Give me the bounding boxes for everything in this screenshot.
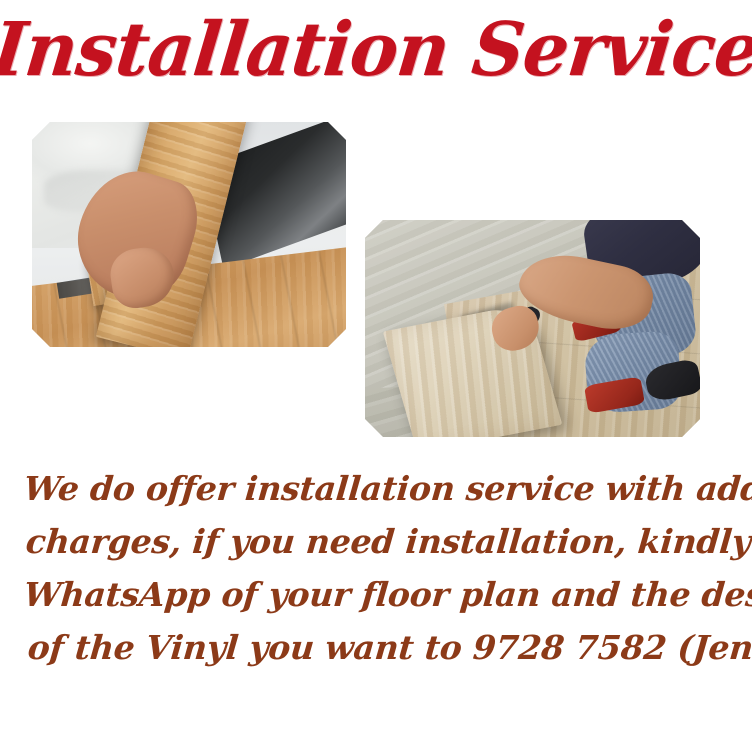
promo-line-3: WhatsApp of your floor plan and the desi… — [22, 568, 735, 621]
photo-image-grey-install — [365, 220, 700, 437]
page-header: Installation Service — [0, 0, 752, 100]
photo-card-oak-install — [23, 113, 355, 356]
promo-line-2: charges, if you need installation, kindl… — [22, 515, 735, 568]
page-title: Installation Service — [0, 13, 752, 87]
promo-line-4: of the Vinyl you want to 9728 7582 (Jenn… — [22, 621, 735, 674]
photo-image-oak-install — [32, 122, 346, 347]
promo-line-1: We do offer installation service with ad… — [22, 462, 735, 515]
promo-message: We do offer installation service with ad… — [24, 462, 732, 674]
photo-card-grey-install — [356, 211, 709, 446]
